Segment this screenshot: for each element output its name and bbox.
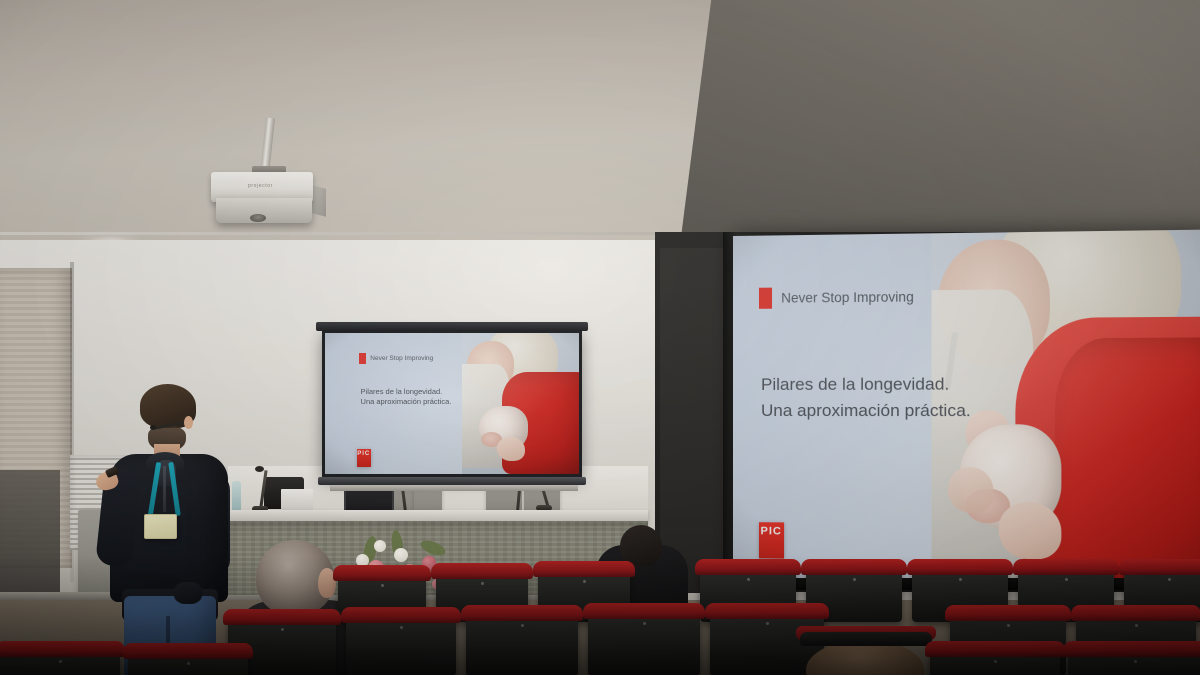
name-card — [281, 489, 313, 510]
presentation-display: Never Stop Improving Pilares de la longe… — [733, 229, 1200, 590]
presenter — [96, 384, 236, 675]
seat — [0, 648, 120, 675]
slide-title-main: Pilares de la longevidad. Una aproximaci… — [761, 371, 971, 425]
slide-title-line1: Pilares de la longevidad. — [361, 387, 452, 398]
projector-brand-label: projector — [248, 183, 273, 189]
seat — [128, 650, 248, 675]
slide-photo-small — [462, 333, 579, 474]
slide-title-small: Pilares de la longevidad. Una aproximaci… — [361, 387, 452, 409]
auditorium-scene: projector — [0, 0, 1200, 675]
seat — [1068, 648, 1200, 675]
seat — [466, 612, 578, 675]
ceiling-dark-section — [680, 0, 1200, 245]
left-wall-shadow — [0, 470, 60, 600]
presenter-ear — [184, 416, 193, 429]
seat — [588, 610, 700, 675]
projection-screen: Never Stop Improving Pilares de la longe… — [322, 330, 582, 477]
name-badge — [144, 514, 177, 539]
slide-title-line1: Pilares de la longevidad. — [761, 371, 971, 398]
sweater-zip — [163, 466, 166, 512]
slide-photo-main — [932, 229, 1200, 590]
seat-back-edge — [800, 632, 932, 646]
seat — [346, 614, 456, 675]
seat — [930, 648, 1060, 675]
presenter-right-hand-pocket — [174, 582, 202, 604]
slide-title-line2: Una aproximación práctica. — [761, 398, 971, 425]
headset-mic-icon — [150, 425, 156, 430]
slide-small: Never Stop Improving Pilares de la longe… — [325, 333, 579, 474]
screen-lower-trim — [330, 485, 578, 491]
pic-logo-small: PIC — [357, 449, 371, 467]
brand-chevron-icon — [759, 288, 772, 309]
projector-lens-icon — [250, 214, 266, 222]
slide-title-line2: Una aproximación práctica. — [361, 397, 452, 408]
slide-main: Never Stop Improving Pilares de la longe… — [733, 229, 1200, 590]
screen-bottom-bar — [318, 477, 586, 485]
slide-tagline-text: Never Stop Improving — [370, 355, 433, 362]
brand-chevron-icon — [359, 353, 366, 364]
slide-tagline-text: Never Stop Improving — [781, 290, 914, 306]
slide-tagline-main: Never Stop Improving — [759, 286, 914, 309]
microphone-head-icon — [255, 466, 264, 472]
pic-logo-main: PIC — [759, 522, 784, 558]
slide-tagline-small: Never Stop Improving — [359, 353, 433, 364]
